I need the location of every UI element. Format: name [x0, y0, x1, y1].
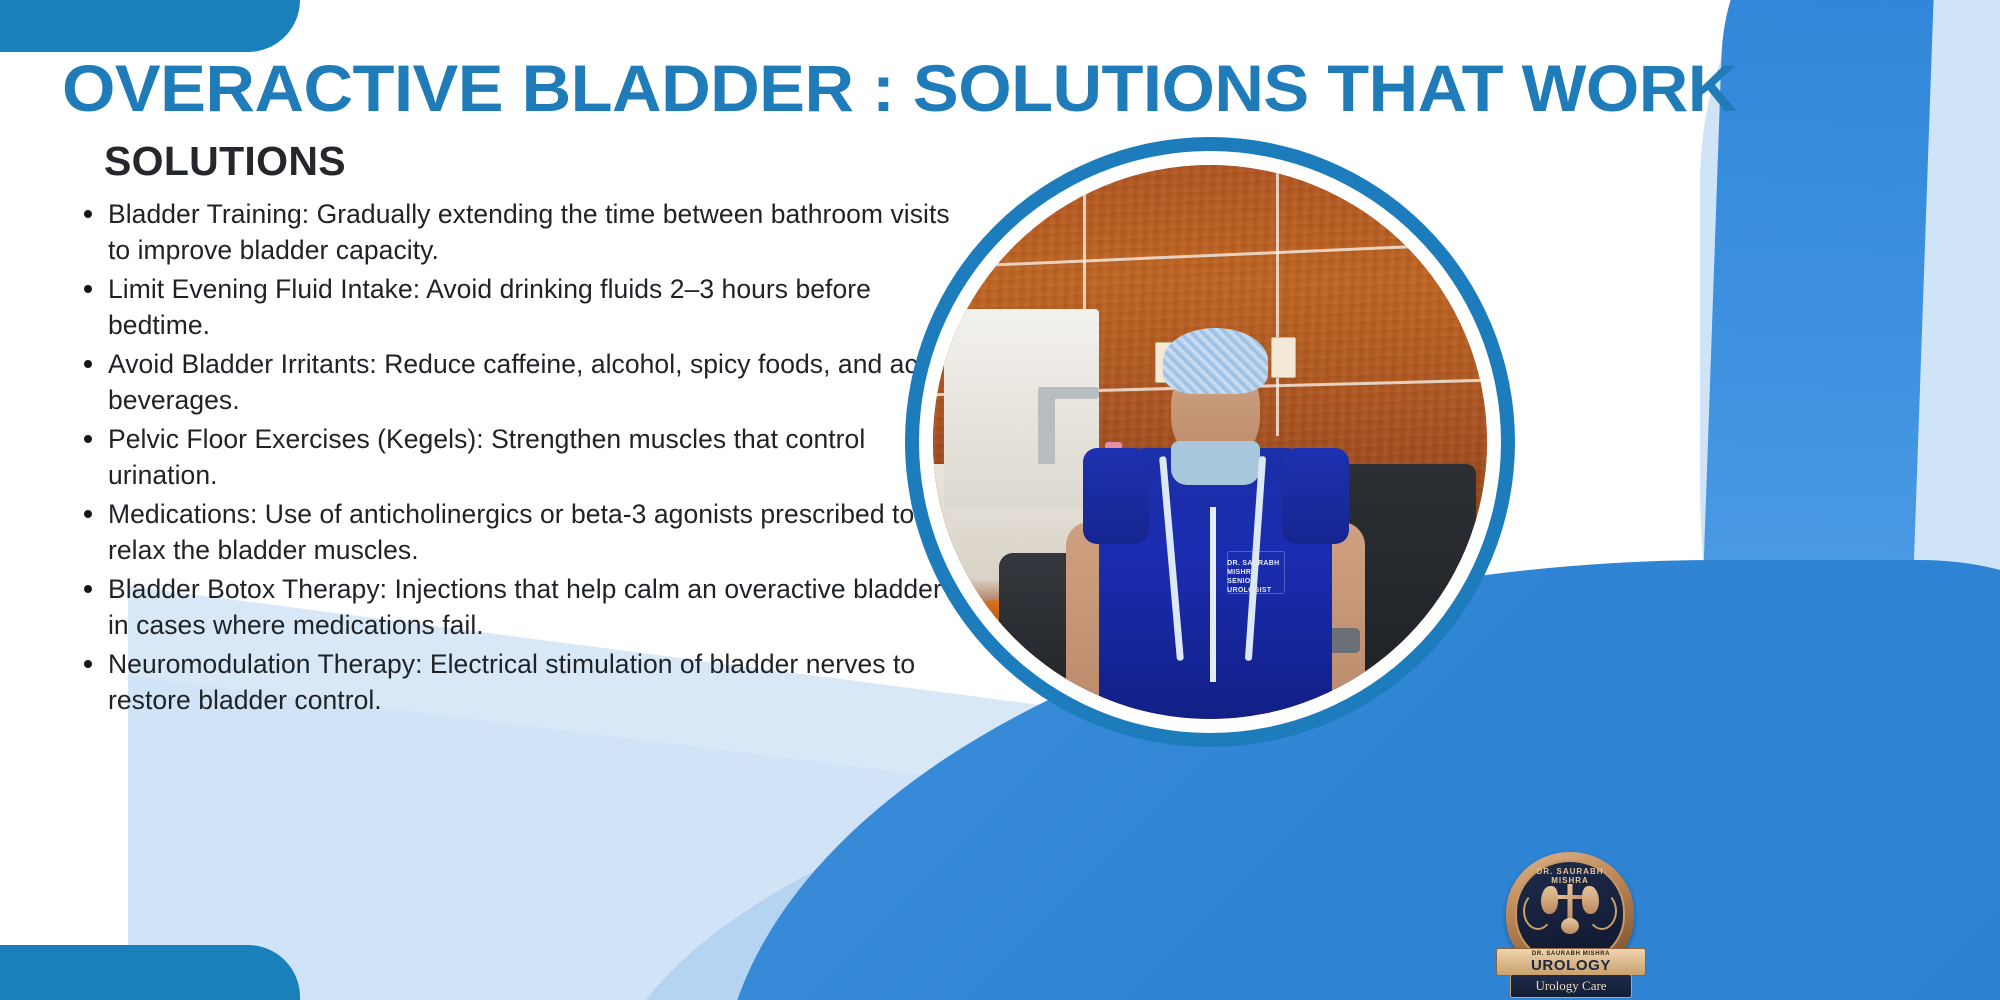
logo-banner: DR. SAURABH MISHRA UROLOGY [1496, 948, 1646, 976]
list-item-text: Medications: Use of anticholinergics or … [108, 499, 914, 565]
photo-surgical-mask-icon [1171, 441, 1260, 485]
bullet-dot-icon [84, 435, 92, 443]
bullet-dot-icon [84, 210, 92, 218]
top-left-blue-bar [0, 0, 300, 52]
logo-banner-main-text: UROLOGY [1497, 958, 1645, 974]
bottom-left-blue-bar [0, 945, 300, 1000]
photo-faucet [1038, 387, 1055, 465]
solutions-list: Bladder Training: Gradually extending th… [78, 196, 958, 721]
bullet-dot-icon [84, 660, 92, 668]
photo-sink-panel [944, 309, 1099, 508]
list-item: Limit Evening Fluid Intake: Avoid drinki… [78, 271, 958, 343]
page-title: OVERACTIVE BLADDER : SOLUTIONS THAT WORK [62, 50, 1934, 126]
doctor-photo-ring: DR. SAURABH MISHRA SENIOR UROLOGIST [905, 137, 1515, 747]
bullet-dot-icon [84, 285, 92, 293]
clinic-logo-badge: DR. SAURABH MISHRA DR. SAURABH MISHRA UR… [1496, 852, 1644, 1000]
logo-tagline: Urology Care [1510, 974, 1632, 998]
logo-ureter-icon [1568, 884, 1573, 922]
list-item-text: Avoid Bladder Irritants: Reduce caffeine… [108, 349, 958, 415]
photo-scrub-sleeve-left [1083, 448, 1149, 543]
list-item-text: Pelvic Floor Exercises (Kegels): Strengt… [108, 424, 865, 490]
list-item: Medications: Use of anticholinergics or … [78, 496, 958, 568]
list-item: Pelvic Floor Exercises (Kegels): Strengt… [78, 421, 958, 493]
list-item-text: Neuromodulation Therapy: Electrical stim… [108, 649, 915, 715]
photo-mask-strap-center [1210, 507, 1216, 683]
list-item: Neuromodulation Therapy: Electrical stim… [78, 646, 958, 718]
list-item-text: Bladder Botox Therapy: Injections that h… [108, 574, 942, 640]
list-item-text: Limit Evening Fluid Intake: Avoid drinki… [108, 274, 871, 340]
logo-crossbar-icon [1557, 895, 1583, 899]
list-item: Avoid Bladder Irritants: Reduce caffeine… [78, 346, 958, 418]
logo-bladder-icon [1561, 918, 1579, 934]
infographic-poster: OVERACTIVE BLADDER : SOLUTIONS THAT WORK… [0, 0, 2000, 1000]
photo-scrub-sleeve-right [1282, 448, 1348, 543]
bullet-dot-icon [84, 585, 92, 593]
doctor-photo: DR. SAURABH MISHRA SENIOR UROLOGIST [933, 165, 1487, 719]
photo-surgical-cap-icon [1163, 328, 1268, 394]
logo-arc-text: DR. SAURABH MISHRA [1517, 867, 1623, 885]
list-item-text: Bladder Training: Gradually extending th… [108, 199, 950, 265]
logo-wreath-left-icon [1523, 892, 1553, 930]
list-item: Bladder Training: Gradually extending th… [78, 196, 958, 268]
list-item: Bladder Botox Therapy: Injections that h… [78, 571, 958, 643]
section-heading-solutions: SOLUTIONS [104, 138, 346, 185]
bullet-dot-icon [84, 510, 92, 518]
photo-doctor-figure: DR. SAURABH MISHRA SENIOR UROLOGIST [1077, 353, 1354, 719]
logo-wreath-right-icon [1587, 892, 1617, 930]
bullet-dot-icon [84, 360, 92, 368]
